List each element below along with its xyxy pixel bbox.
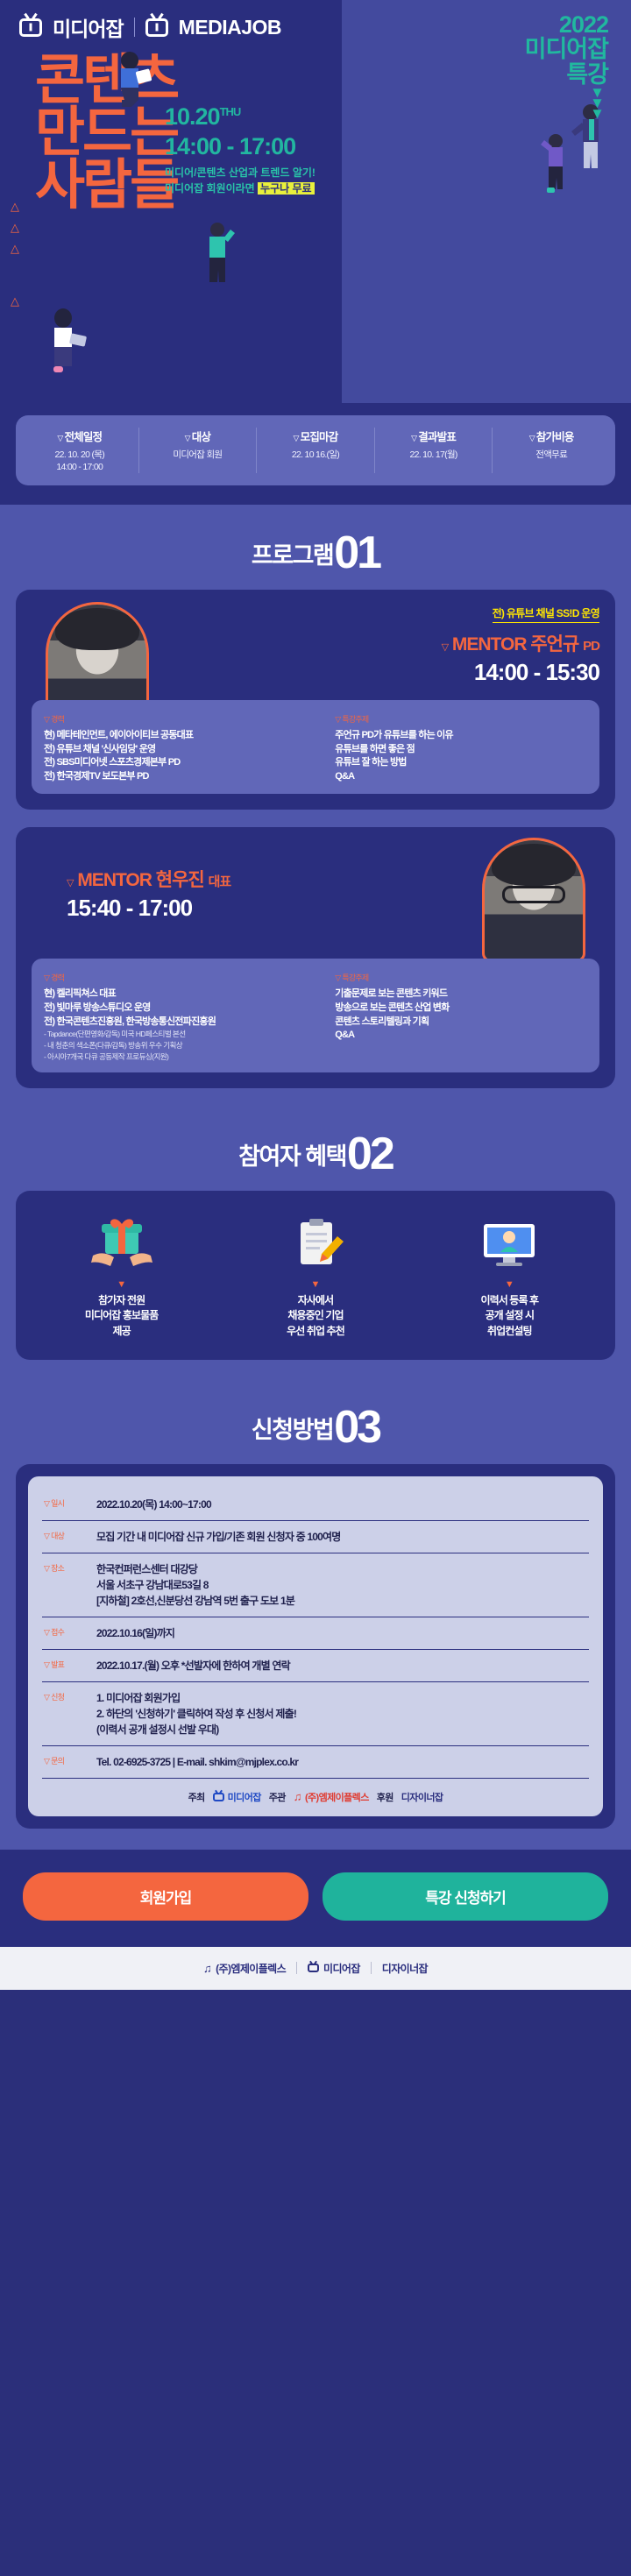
organizer-name: (주)엠제이플렉스 (305, 1790, 369, 1804)
caret-icon: ▽ (185, 434, 190, 442)
benefit-item: ▼ 참가자 전원 미디어잡 홍보물품 제공 (25, 1214, 218, 1339)
caret-icon: ▽ (335, 715, 340, 724)
apply-value: 2022.10.17.(월) 오후 *선발자에 한하여 개별 연락 (96, 1658, 290, 1674)
host-name: 미디어잡 (228, 1790, 261, 1804)
apply-key: 일시 (51, 1499, 64, 1508)
brand-logo[interactable]: 미디어잡 MEDIAJOB (19, 12, 281, 42)
hero-title-line-2: 만드는 (35, 107, 177, 159)
topic-item: 기출문제로 보는 콘텐츠 키워드 (335, 987, 587, 1001)
caret-icon: ▽ (44, 1693, 49, 1702)
footer-item-designerjob[interactable]: 디자이너잡 (382, 1961, 428, 1976)
host-label: 주최 (188, 1790, 205, 1804)
person-laptop-illustration (46, 308, 91, 377)
hero-lecture-label: 특강 (525, 62, 608, 87)
topic-item: 주언규 PD가 유튜브를 하는 이유 (335, 729, 587, 743)
mentor-career-column: ▽경력 현) 메타테인먼트, 에이아이티브 공동대표 전) 유튜브 채널 '신사… (44, 711, 326, 783)
mentor-name: 주언규 (530, 634, 578, 655)
footer-divider (296, 1962, 297, 1974)
info-value: 22. 10. 20 (목) 14:00 - 17:00 (23, 449, 137, 473)
section-title: 참여자 혜택 (238, 1137, 346, 1173)
caret-icon: ▽ (529, 434, 535, 442)
hero-tagline-line-1: 미디어/콘텐츠 산업과 트렌드 알기! (165, 165, 315, 180)
apply-value: 한국컨퍼런스센터 대강당 서울 서초구 강남대로53길 8 [지하철] 2호선,… (96, 1561, 294, 1609)
organizer-brand: ♫(주)엠제이플렉스 (294, 1790, 369, 1804)
info-col-deadline: ▽모집마감 22. 10 16.(일) (257, 428, 375, 473)
mentor-label: MENTOR (77, 870, 152, 890)
career-sub-item: - 내 청춘의 색소폰(다큐/감독) 방송위 우수 기획상 (44, 1040, 326, 1051)
info-label: 참가비용 (536, 431, 574, 443)
career-item: 현) 메타테인먼트, 에이아이티브 공동대표 (44, 729, 326, 743)
info-label: 전체일정 (64, 431, 102, 443)
chevron-down-icon-3: ▼ (590, 109, 605, 119)
caret-down-icon: ▼ (413, 1280, 606, 1290)
info-col-target: ▽대상 미디어잡 회원 (139, 428, 258, 473)
footer-divider (371, 1962, 372, 1974)
section-number: 01 (334, 534, 379, 572)
section-number: 03 (334, 1409, 379, 1447)
benefit-item: ▼ 이력서 등록 후 공개 설정 시 취업컨설팅 (413, 1214, 606, 1339)
apply-value: 2022.10.20(목) 14:00~17:00 (96, 1497, 211, 1512)
apply-value: 2022.10.16(일)까지 (96, 1625, 174, 1641)
footer-name: (주)엠제이플렉스 (216, 1961, 286, 1976)
mentor-career-column: ▽경력 현) 켈리픽쳐스 대표 전) 빛마루 방송스튜디오 운영 전) 한국콘텐… (44, 969, 326, 1062)
mentor-rank: PD (583, 639, 599, 654)
benefit-text: 참가자 전원 미디어잡 홍보물품 제공 (25, 1293, 218, 1339)
apply-card: ▽일시 2022.10.20(목) 14:00~17:00 ▽대상 모집 기간 … (16, 1464, 615, 1829)
sponsor-label: 후원 (377, 1790, 393, 1804)
caret-icon: ▽ (44, 1564, 49, 1573)
career-sub-item: - Tapdance(단편영화/감독) 미국 HD페스티벌 본선 (44, 1029, 326, 1040)
apply-value-contact[interactable]: Tel. 02-6925-3725 | E-mail. shkim@mjplex… (96, 1754, 298, 1770)
hero-title-line-3: 사람들 (35, 159, 177, 212)
page-footer: ♫ (주)엠제이플렉스 미디어잡 디자이너잡 (0, 1947, 631, 1990)
caret-icon: ▽ (57, 434, 62, 442)
info-value: 미디어잡 회원 (141, 449, 255, 461)
apply-button[interactable]: 특강 신청하기 (323, 1872, 608, 1921)
topic-heading: 특강주제 (342, 715, 368, 724)
tv-icon-secondary (145, 18, 168, 37)
caret-icon: ▽ (44, 1660, 49, 1669)
career-sub-item: - 아시아7개국 다큐 공동제작 프로듀싱(지원) (44, 1051, 326, 1063)
benefit-text: 자사에서 채용중인 기업 우선 취업 추천 (218, 1293, 412, 1339)
apply-row: ▽대상 모집 기간 내 미디어잡 신규 가입/기존 회원 신청자 중 100여명 (42, 1521, 589, 1553)
topic-item: 유튜브 잘 하는 방법 (335, 756, 587, 770)
person-waving-illustration (200, 221, 235, 284)
apply-row: ▽신청 1. 미디어잡 회원가입 2. 하단의 '신청하기' 클릭하여 작성 후… (42, 1682, 589, 1746)
music-note-icon: ♫ (294, 1790, 301, 1803)
career-item: 전) 빛마루 방송스튜디오 운영 (44, 1001, 326, 1016)
career-item: 전) 한국경제TV 보도본부 PD (44, 770, 326, 784)
hero-time: 14:00 - 17:00 (165, 133, 295, 160)
apply-row: ▽발표 2022.10.17.(월) 오후 *선발자에 한하여 개별 연락 (42, 1650, 589, 1682)
mentor-detail-panel: ▽경력 현) 켈리픽쳐스 대표 전) 빛마루 방송스튜디오 운영 전) 한국콘텐… (32, 959, 599, 1072)
caret-icon: ▽ (442, 642, 448, 653)
apply-key: 문의 (51, 1757, 64, 1766)
footer-item-mjplex[interactable]: ♫ (주)엠제이플렉스 (203, 1961, 286, 1976)
info-label: 결과발표 (418, 431, 456, 443)
mentor-card: 전) 유튜브 채널 SS!D 운영 ▽ MENTOR 주언규 PD 14:00 … (16, 590, 615, 810)
person-reading-illustration (110, 51, 156, 109)
topic-item: 유튜브를 하면 좋은 점 (335, 743, 587, 757)
topic-item: Q&A (335, 770, 587, 784)
hero-date-weekday: THU (220, 105, 241, 118)
person-pointing-illustration (538, 133, 573, 195)
info-bar: ▽전체일정 22. 10. 20 (목) 14:00 - 17:00 ▽대상 미… (16, 415, 615, 485)
apply-row: ▽접수 2022.10.16(일)까지 (42, 1617, 589, 1650)
info-col-announcement: ▽결과발표 22. 10. 17(월) (375, 428, 493, 473)
hero-tagline-line-2: 미디어잡 회원이라면 (165, 182, 258, 195)
hero-date: 10.20 (165, 103, 220, 130)
career-heading: 경력 (51, 973, 64, 982)
caret-icon: ▽ (44, 715, 49, 724)
caret-icon: ▽ (44, 1499, 49, 1508)
info-col-fee: ▽참가비용 전액무료 (493, 428, 610, 473)
apply-key: 발표 (51, 1660, 64, 1669)
topic-heading: 특강주제 (342, 973, 368, 982)
signup-button[interactable]: 회원가입 (23, 1872, 308, 1921)
organizer-label: 주관 (269, 1790, 286, 1804)
monitor-icon (471, 1214, 547, 1275)
caret-icon: ▽ (335, 973, 340, 982)
mentor-topic-column: ▽특강주제 주언규 PD가 유튜브를 하는 이유 유튜브를 하면 좋은 점 유튜… (335, 711, 587, 783)
logo-korean: 미디어잡 (53, 12, 124, 42)
gift-icon (84, 1214, 160, 1275)
apply-row: ▽장소 한국컨퍼런스센터 대강당 서울 서초구 강남대로53길 8 [지하철] … (42, 1553, 589, 1617)
career-heading: 경력 (51, 715, 64, 724)
benefit-text: 이력서 등록 후 공개 설정 시 취업컨설팅 (413, 1293, 606, 1339)
topic-item: Q&A (335, 1029, 587, 1043)
section-header-program: 프로그램 01 (0, 505, 631, 590)
info-bar-section: ▽전체일정 22. 10. 20 (목) 14:00 - 17:00 ▽대상 미… (0, 403, 631, 505)
caret-icon: ▽ (294, 434, 299, 442)
tv-icon (19, 18, 42, 37)
caret-icon: ▽ (44, 1628, 49, 1637)
apply-table: ▽일시 2022.10.20(목) 14:00~17:00 ▽대상 모집 기간 … (28, 1476, 603, 1816)
tv-icon (308, 1964, 319, 1972)
cta-section: 회원가입 특강 신청하기 (0, 1850, 631, 1947)
info-value: 22. 10 16.(일) (259, 449, 372, 461)
caret-icon: ▽ (411, 434, 416, 442)
mentor-heading: ▽ MENTOR 현우진 대표 15:40 - 17:00 (32, 866, 599, 922)
triangle-decor-1: △ (11, 200, 19, 214)
scroll-down-arrows: ▼ ▼ ▼ (590, 88, 605, 119)
mentor-time: 15:40 - 17:00 (67, 895, 599, 922)
logo-divider (134, 18, 135, 37)
benefits-card: ▼ 참가자 전원 미디어잡 홍보물품 제공 ▼ 자사에서 채용중인 기업 우선 … (16, 1191, 615, 1360)
caret-icon: ▽ (44, 973, 49, 982)
career-item: 전) 한국콘텐츠진흥원, 한국방송통신전파진흥원 (44, 1016, 326, 1030)
hero-year: 2022 (525, 12, 608, 37)
hero-tagline: 미디어/콘텐츠 산업과 트렌드 알기! 미디어잡 회원이라면 누구나 무료 (165, 165, 315, 196)
section-header-benefits: 참여자 혜택 02 (0, 1106, 631, 1191)
info-label: 모집마감 (301, 431, 338, 443)
section-title: 신청방법 (252, 1411, 333, 1447)
info-value: 전액무료 (494, 449, 608, 461)
hero-brand-line: 미디어잡 (525, 37, 608, 61)
career-item: 전) 유튜브 채널 '신사임당' 운영 (44, 743, 326, 757)
mentor-detail-panel: ▽경력 현) 메타테인먼트, 에이아이티브 공동대표 전) 유튜브 채널 '신사… (32, 700, 599, 794)
sponsor-brand: 디자이너잡 (401, 1790, 443, 1804)
section-number: 02 (347, 1136, 393, 1173)
benefit-item: ▼ 자사에서 채용중인 기업 우선 취업 추천 (218, 1214, 412, 1339)
footer-name: 디자이너잡 (382, 1961, 428, 1976)
caret-down-icon: ▼ (218, 1280, 412, 1290)
mentor-topic-column: ▽특강주제 기출문제로 보는 콘텐츠 키워드 방송으로 보는 콘텐츠 산업 변화… (335, 969, 587, 1062)
apply-section: ▽일시 2022.10.20(목) 14:00~17:00 ▽대상 모집 기간 … (0, 1464, 631, 1850)
info-value: 22. 10. 17(월) (377, 449, 491, 461)
info-col-schedule: ▽전체일정 22. 10. 20 (목) 14:00 - 17:00 (21, 428, 139, 473)
caret-icon: ▽ (67, 878, 73, 888)
logo-english: MEDIAJOB (179, 16, 281, 39)
host-brand: 미디어잡 (213, 1790, 261, 1804)
mentor-card: ▽ MENTOR 현우진 대표 15:40 - 17:00 ▽경력 현) 켈리픽… (16, 827, 615, 1088)
apply-value: 1. 미디어잡 회원가입 2. 하단의 '신청하기' 클릭하여 작성 후 신청서… (96, 1690, 296, 1737)
triangle-decor-3: △ (11, 242, 19, 256)
apply-key: 접수 (51, 1628, 64, 1637)
tv-icon (213, 1793, 224, 1801)
footer-item-mediajob[interactable]: 미디어잡 (308, 1961, 360, 1976)
mentor-time: 14:00 - 15:30 (32, 659, 599, 686)
triangle-decor-4: △ (11, 294, 19, 308)
host-row: 주최 미디어잡 주관 ♫(주)엠제이플렉스 후원 디자이너잡 (42, 1779, 589, 1804)
career-item: 현) 켈리픽쳐스 대표 (44, 987, 326, 1001)
mentor-rank: 대표 (209, 874, 231, 889)
apply-key: 장소 (51, 1564, 64, 1573)
caret-icon: ▽ (44, 1532, 49, 1540)
mentor-name: 현우진 (156, 870, 204, 890)
apply-row: ▽문의 Tel. 02-6925-3725 | E-mail. shkim@mj… (42, 1746, 589, 1779)
mentor-section-2: ▽ MENTOR 현우진 대표 15:40 - 17:00 ▽경력 현) 켈리픽… (0, 827, 631, 1106)
hero-year-block: 2022 미디어잡 특강 (525, 12, 608, 87)
mentor-heading: 전) 유튜브 채널 SS!D 운영 ▽ MENTOR 주언규 PD 14:00 … (32, 605, 599, 686)
mentor-section-1: 전) 유튜브 채널 SS!D 운영 ▽ MENTOR 주언규 PD 14:00 … (0, 590, 631, 827)
music-note-icon: ♫ (203, 1962, 211, 1975)
info-label: 대상 (192, 431, 210, 443)
topic-item: 콘텐츠 스토리텔링과 기획 (335, 1016, 587, 1030)
triangle-decor-2: △ (11, 221, 19, 235)
apply-row: ▽일시 2022.10.20(목) 14:00~17:00 (42, 1489, 589, 1521)
mentor-label: MENTOR (452, 634, 527, 655)
topic-item: 방송으로 보는 콘텐츠 산업 변화 (335, 1001, 587, 1016)
caret-down-icon: ▼ (25, 1280, 218, 1290)
hero-date-time: 10.20THU 14:00 - 17:00 (165, 103, 295, 160)
caret-icon: ▽ (44, 1757, 49, 1766)
mentor-badge: 전) 유튜브 채널 SS!D 운영 (493, 605, 599, 623)
sponsor-name: 디자이너잡 (401, 1790, 443, 1804)
apply-value: 모집 기간 내 미디어잡 신규 가입/기존 회원 신청자 중 100여명 (96, 1529, 340, 1545)
hero-tagline-highlight: 누구나 무료 (258, 182, 315, 195)
career-item: 전) SBS미디어넷 스포츠경제본부 PD (44, 756, 326, 770)
apply-key: 신청 (51, 1693, 64, 1702)
benefits-section: ▼ 참가자 전원 미디어잡 홍보물품 제공 ▼ 자사에서 채용중인 기업 우선 … (0, 1191, 631, 1379)
section-title: 프로그램 (252, 536, 333, 572)
section-header-apply: 신청방법 03 (0, 1379, 631, 1464)
clipboard-icon (278, 1214, 353, 1275)
footer-name: 미디어잡 (323, 1961, 360, 1976)
apply-key: 대상 (51, 1532, 64, 1540)
hero-banner: 미디어잡 MEDIAJOB △ △ △ △ 콘텐츠 만드는 사람들 (0, 0, 631, 403)
